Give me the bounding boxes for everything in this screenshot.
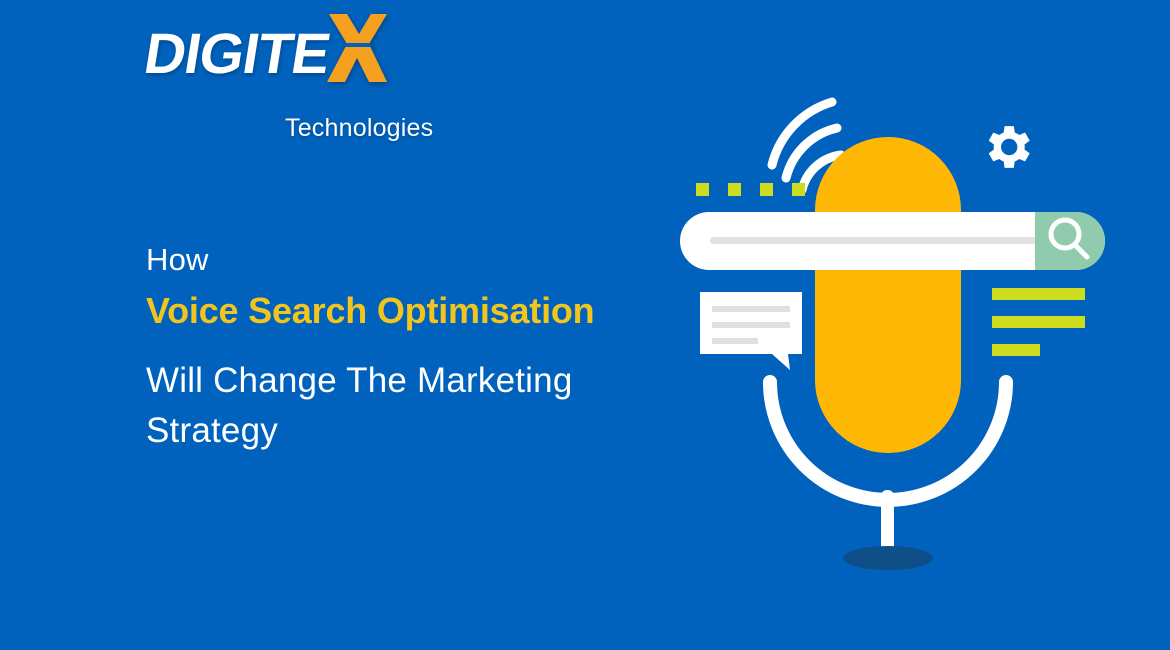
banner-canvas: DIGITE Technologies How Voice Search Opt… [0, 0, 1170, 650]
speech-bubble-line [712, 306, 790, 312]
loading-dashes [696, 183, 805, 196]
gear-icon [989, 126, 1030, 168]
headline-tail: Will Change The Marketing Strategy [146, 356, 706, 456]
speech-bubble [700, 292, 802, 370]
logo-accent-x-icon [325, 12, 389, 84]
logo-subtitle: Technologies [285, 114, 433, 143]
headline-eyebrow: How [146, 238, 706, 282]
search-bar-placeholder-line [710, 237, 1050, 244]
mic-capsule-body [815, 137, 961, 453]
voice-search-illustration [660, 60, 1130, 590]
search-result-bars [992, 288, 1085, 356]
brand-logo[interactable]: DIGITE Technologies [145, 22, 465, 134]
speech-bubble-line [712, 338, 758, 344]
speech-bubble-body [700, 292, 802, 370]
speech-bubble-line [712, 322, 790, 328]
headline-highlight: Voice Search Optimisation [146, 286, 706, 336]
logo-wordmark: DIGITE [145, 22, 465, 90]
headline-block: How Voice Search Optimisation Will Chang… [146, 238, 706, 456]
logo-main-text: DIGITE [140, 22, 334, 86]
mic-base [843, 546, 933, 570]
search-bar [680, 212, 1105, 270]
